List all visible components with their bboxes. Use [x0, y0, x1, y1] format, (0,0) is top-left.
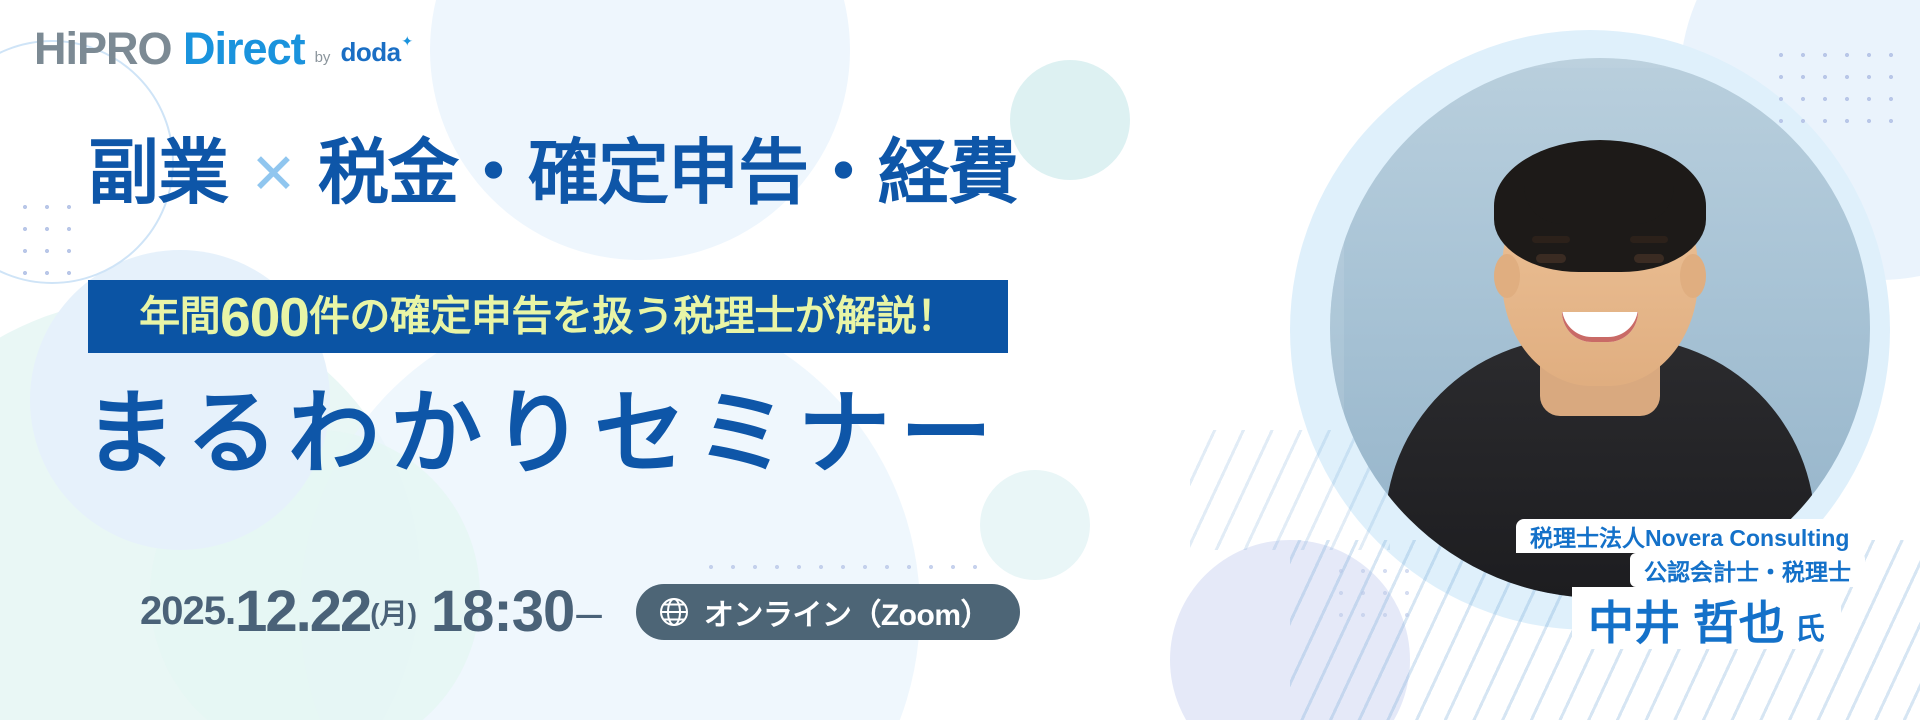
- decor-circle-top-center: [430, 0, 850, 260]
- logo-direct-text: Direct: [183, 23, 305, 74]
- hero-title-right: 税金・確定申告・経費: [318, 138, 1018, 209]
- speaker-name: 中井 哲也 氏: [1572, 587, 1841, 649]
- sub-banner-prefix: 年間: [139, 296, 220, 337]
- decor-circle-small-teal: [980, 470, 1090, 580]
- format-badge-label: オンライン（Zoom）: [704, 590, 990, 634]
- schedule-year: 2025.: [140, 589, 235, 634]
- speaker-company: 税理士法人Novera Consulting: [1516, 519, 1863, 553]
- decor-circle-teal-top: [1010, 60, 1130, 180]
- decor-dots-left: [14, 196, 82, 286]
- speaker-name-suffix: 氏: [1795, 604, 1825, 648]
- schedule-dash: –: [576, 585, 602, 639]
- sub-banner-suffix: 件の確定申告を扱う税理士が解説！: [309, 296, 957, 337]
- hero-title-left: 副業: [88, 138, 228, 209]
- hero-headline: まるわかりセミナー: [84, 388, 1002, 480]
- logo-wordmark: HiPRO Direct: [34, 26, 305, 71]
- hero-title: 副業 ✕ 税金・確定申告・経費: [88, 138, 1018, 209]
- decor-dots-bottom-center: [700, 556, 990, 580]
- logo-doda-word: doda: [340, 37, 400, 67]
- portrait-ear-right: [1680, 254, 1706, 298]
- portrait-circle: [1330, 58, 1870, 598]
- portrait-eye-left: [1536, 254, 1566, 263]
- portrait-eyebrow-left: [1532, 236, 1570, 243]
- cross-icon: ✕: [250, 146, 296, 202]
- schedule-time: 18:30: [431, 578, 574, 645]
- logo-doda-text: doda ✦: [340, 37, 400, 71]
- schedule-row: 2025. 12.22 (月) 18:30 – オンライン（Zoom）: [140, 578, 1020, 645]
- sub-banner-number: 600: [220, 285, 309, 349]
- portrait-eye-right: [1634, 254, 1664, 263]
- portrait-eyebrow-right: [1630, 236, 1668, 243]
- hipro-direct-logo[interactable]: HiPRO Direct by doda ✦: [34, 26, 401, 71]
- schedule-date: 12.22: [235, 578, 370, 645]
- hero-sub-banner: 年間600件の確定申告を扱う税理士が解説！: [88, 280, 1008, 353]
- seminar-banner: HiPRO Direct by doda ✦ 副業 ✕ 税金・確定申告・経費 年…: [0, 0, 1920, 720]
- logo-by-text: by: [315, 49, 331, 71]
- speaker-name-text: 中井 哲也: [1588, 587, 1785, 653]
- speaker-role: 公認会計士・税理士: [1630, 553, 1865, 587]
- schedule-day-of-week: (月): [370, 592, 417, 632]
- portrait-ear-left: [1494, 254, 1520, 298]
- globe-icon: [658, 596, 690, 628]
- logo-hi-text: Hi: [34, 23, 77, 74]
- format-badge: オンライン（Zoom）: [636, 584, 1020, 640]
- portrait-hair: [1494, 140, 1706, 272]
- logo-pro-text: PRO: [77, 23, 172, 74]
- sparkle-icon: ✦: [401, 33, 412, 50]
